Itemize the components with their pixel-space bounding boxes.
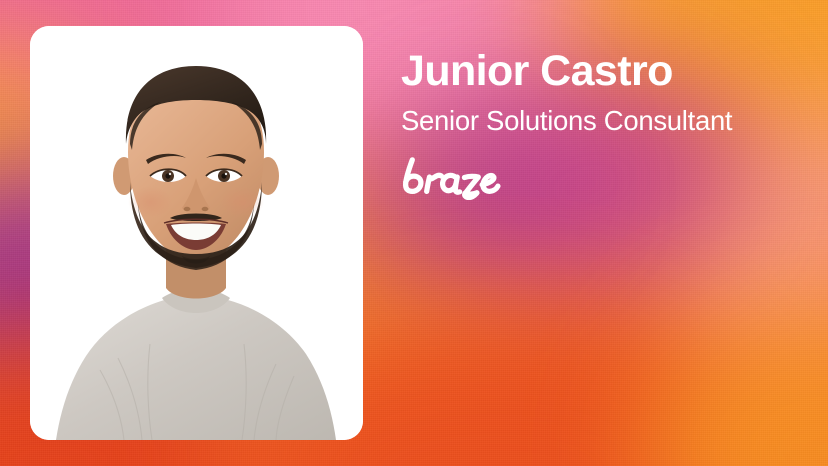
braze-wordmark-strokes: [406, 160, 498, 198]
braze-logo: braze: [401, 156, 503, 200]
speaker-name: Junior Castro: [401, 50, 801, 93]
speaker-info: Junior Castro Senior Solutions Consultan…: [401, 50, 801, 200]
speaker-portrait-image: Portrait of a smiling man with short dar…: [30, 26, 363, 440]
speaker-card: Portrait of a smiling man with short dar…: [0, 0, 828, 466]
speaker-title: Senior Solutions Consultant: [401, 107, 801, 136]
blob-amber-bottom-right: [640, 300, 828, 466]
nostril-right: [202, 207, 209, 211]
speaker-photo-card: Portrait of a smiling man with short dar…: [30, 26, 363, 440]
nostril-left: [184, 207, 191, 211]
